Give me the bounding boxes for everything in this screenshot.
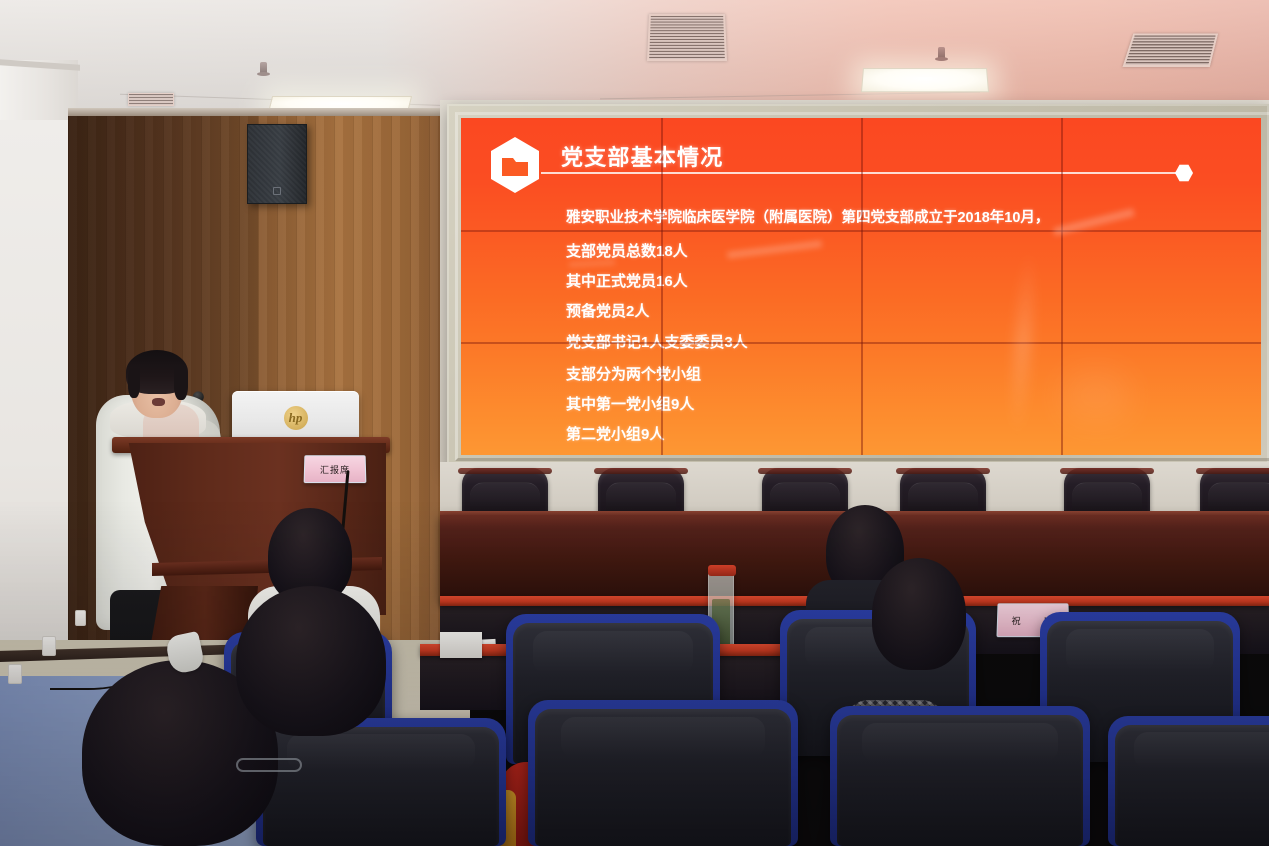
- audience-seat[interactable]: [256, 718, 506, 846]
- slide-line: 第二党小组9人: [566, 423, 664, 444]
- slide-line: 支部党员总数18人: [566, 240, 688, 261]
- conference-room-scene: 党支部基本情况 雅安职业技术学院临床医学院（附属医院）第四党支部成立于2018年…: [0, 0, 1269, 846]
- seat-cushion: [1115, 725, 1269, 846]
- video-wall-seam: [861, 118, 863, 455]
- audience-seat[interactable]: [830, 706, 1090, 846]
- fire-sprinkler-icon: [938, 47, 945, 60]
- seat-cushion: [535, 709, 791, 846]
- seat-cushion: [837, 715, 1083, 846]
- wall-speaker: [247, 124, 307, 204]
- video-wall-seam: [461, 230, 1261, 232]
- thermos-lid: [708, 565, 736, 576]
- fire-sprinkler-icon: [260, 62, 267, 75]
- slide-line: 其中正式党员16人: [566, 270, 688, 291]
- speaker-logo: [273, 187, 281, 195]
- wood-wall-trim: [68, 108, 468, 116]
- audience-seat[interactable]: [1108, 716, 1269, 846]
- slide-lead-text: 雅安职业技术学院临床医学院（附属医院）第四党支部成立于2018年10月，: [566, 206, 1049, 227]
- podium-placard: 汇报席: [304, 455, 367, 483]
- presenter-mouth: [152, 398, 165, 406]
- slide-title: 党支部基本情况: [561, 140, 723, 172]
- slide-line: 支部分为两个党小组: [566, 363, 701, 384]
- ceiling-panel-light: [861, 68, 989, 92]
- audience-head: [236, 586, 386, 736]
- audience-head: [872, 558, 966, 670]
- seat-cushion: [263, 727, 499, 846]
- hvac-vent-icon: [128, 93, 174, 106]
- power-outlet-icon: [75, 610, 86, 626]
- hvac-vent-icon: [1122, 34, 1218, 67]
- eyeglasses-icon: [236, 758, 302, 772]
- hexagon-endpoint-icon: [1175, 164, 1193, 182]
- audience-seat[interactable]: [528, 700, 798, 846]
- folder-hexagon-icon: [489, 136, 541, 194]
- slide-line: 其中第一党小组9人: [566, 393, 694, 414]
- video-wall-seam: [1061, 118, 1063, 455]
- slide-line: 预备党员2人: [566, 300, 649, 321]
- hp-logo: hp: [284, 406, 308, 430]
- power-outlet-icon: [8, 664, 22, 684]
- presenter-hair: [126, 350, 188, 394]
- video-wall-seam: [461, 342, 1261, 344]
- hvac-vent-icon: [647, 14, 727, 61]
- video-wall-screen[interactable]: 党支部基本情况 雅安职业技术学院临床医学院（附属医院）第四党支部成立于2018年…: [461, 118, 1261, 455]
- video-wall-seam: [661, 118, 663, 455]
- document: [440, 632, 482, 658]
